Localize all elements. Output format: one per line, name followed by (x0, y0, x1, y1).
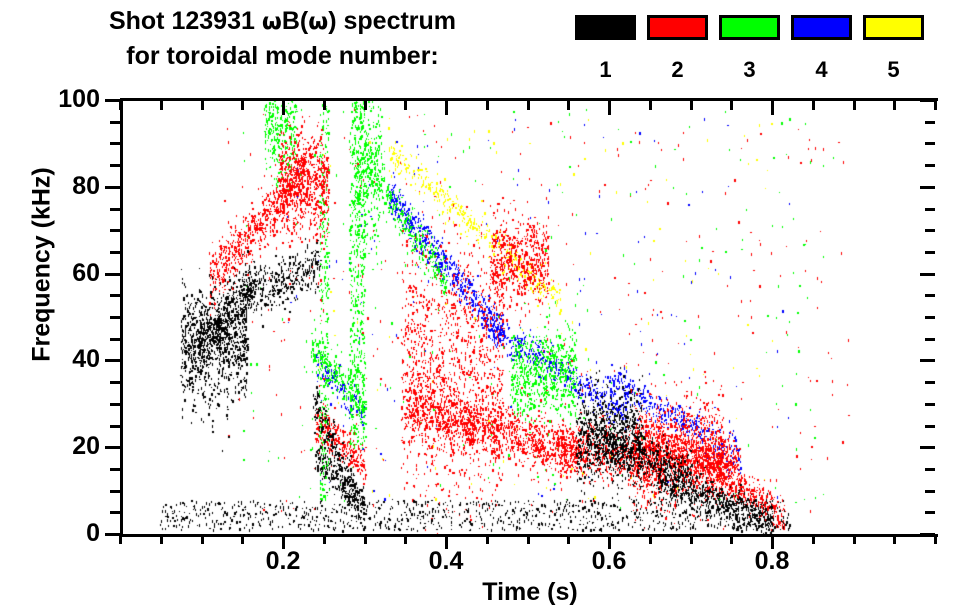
title-mid: B( (282, 7, 308, 35)
x-top-tick-0.2 (282, 100, 285, 115)
y-tick-minor-75 (110, 208, 120, 211)
y-tick-major-0 (105, 533, 120, 536)
plot-frame (120, 100, 938, 537)
legend-swatch-mode-n5 (863, 15, 924, 40)
y-tick-minor-30 (110, 403, 120, 406)
title-suffix: ) spectrum (328, 7, 456, 35)
y-right-tick-80 (920, 186, 935, 189)
y-tick-minor-85 (110, 164, 120, 167)
x-top-tick-0.9 (853, 100, 856, 110)
y-tick-label-0: 0 (25, 520, 100, 546)
y-right-tick-20 (920, 446, 935, 449)
y-tick-major-20 (105, 446, 120, 449)
y-tick-minor-5 (110, 511, 120, 514)
y-tick-minor-10 (110, 490, 120, 493)
y-right-tick-60 (920, 273, 935, 276)
y-axis-title: Frequency (kHz) (28, 155, 57, 375)
x-top-tick-0.45 (486, 100, 489, 110)
x-tick-minor-0.45 (486, 534, 489, 544)
y-right-tick-65 (925, 251, 935, 254)
x-top-tick-0.05 (160, 100, 163, 110)
x-top-tick-0.15 (241, 100, 244, 110)
x-top-tick-0.1 (201, 100, 204, 110)
legend-label-mode-n4: 4 (791, 57, 852, 83)
legend-label-row: 12345 (575, 57, 963, 87)
y-tick-major-100 (105, 99, 120, 102)
legend: 12345 (575, 13, 963, 88)
x-tick-minor-0.85 (812, 534, 815, 544)
y-right-tick-15 (925, 468, 935, 471)
title-prefix: Shot 123931 (109, 7, 262, 35)
x-top-tick-0.6 (608, 100, 611, 115)
title-line-1: Shot 123931 ωB(ω) spectrum (0, 4, 565, 39)
x-top-tick-0.55 (567, 100, 570, 110)
legend-swatch-mode-n1 (575, 15, 636, 40)
x-tick-minor-0.25 (323, 534, 326, 544)
y-tick-minor-65 (110, 251, 120, 254)
y-right-tick-90 (925, 142, 935, 145)
omega-symbol-1: ω (262, 9, 282, 35)
title-line-2: for toroidal mode number: (0, 39, 565, 73)
legend-swatch-mode-n3 (719, 15, 780, 40)
x-axis-title: Time (s) (380, 578, 680, 607)
y-right-tick-25 (925, 425, 935, 428)
y-right-tick-30 (925, 403, 935, 406)
figure-title: Shot 123931 ωB(ω) spectrum for toroidal … (0, 4, 565, 73)
y-right-tick-75 (925, 208, 935, 211)
x-tick-label-0.6: 0.6 (564, 546, 654, 576)
x-tick-minor-1 (934, 534, 937, 544)
x-top-tick-0.85 (812, 100, 815, 110)
x-tick-minor-0.7 (690, 534, 693, 544)
x-tick-minor-0.05 (160, 534, 163, 544)
x-tick-minor-0.35 (404, 534, 407, 544)
x-top-tick-0 (119, 100, 122, 110)
legend-label-mode-n5: 5 (863, 57, 924, 83)
y-tick-minor-50 (110, 316, 120, 319)
x-top-tick-0.75 (730, 100, 733, 110)
x-tick-minor-0.65 (649, 534, 652, 544)
x-tick-minor-0.95 (893, 534, 896, 544)
y-tick-minor-90 (110, 142, 120, 145)
x-top-tick-0.95 (893, 100, 896, 110)
legend-label-mode-n2: 2 (647, 57, 708, 83)
legend-swatch-mode-n4 (791, 15, 852, 40)
x-tick-label-0.2: 0.2 (238, 546, 328, 576)
y-right-tick-40 (920, 359, 935, 362)
x-tick-minor-0.1 (201, 534, 204, 544)
legend-swatch-mode-n2 (647, 15, 708, 40)
x-tick-minor-0.75 (730, 534, 733, 544)
y-tick-minor-25 (110, 425, 120, 428)
y-right-tick-55 (925, 294, 935, 297)
y-right-tick-85 (925, 164, 935, 167)
x-top-tick-0.65 (649, 100, 652, 110)
spectrogram-figure: Shot 123931 ωB(ω) spectrum for toroidal … (0, 0, 963, 615)
omega-symbol-2: ω (308, 9, 328, 35)
x-tick-label-0.8: 0.8 (727, 546, 817, 576)
y-tick-minor-55 (110, 294, 120, 297)
y-right-tick-35 (925, 381, 935, 384)
y-tick-minor-70 (110, 229, 120, 232)
x-top-tick-0.3 (364, 100, 367, 110)
y-tick-minor-95 (110, 121, 120, 124)
y-tick-minor-35 (110, 381, 120, 384)
y-tick-major-60 (105, 273, 120, 276)
legend-label-mode-n3: 3 (719, 57, 780, 83)
y-tick-label-20: 20 (25, 433, 100, 459)
y-tick-minor-45 (110, 338, 120, 341)
x-top-tick-0.25 (323, 100, 326, 110)
x-tick-minor-0 (119, 534, 122, 544)
y-tick-minor-15 (110, 468, 120, 471)
y-right-tick-0 (920, 533, 935, 536)
legend-swatch-row (575, 13, 963, 43)
x-top-tick-0.4 (445, 100, 448, 115)
y-tick-label-100: 100 (25, 86, 100, 112)
x-top-tick-0.8 (771, 100, 774, 115)
y-tick-major-80 (105, 186, 120, 189)
y-right-tick-45 (925, 338, 935, 341)
y-tick-major-40 (105, 359, 120, 362)
x-top-tick-0.35 (404, 100, 407, 110)
x-top-tick-0.7 (690, 100, 693, 110)
y-right-tick-5 (925, 511, 935, 514)
y-right-tick-70 (925, 229, 935, 232)
x-tick-label-0.4: 0.4 (401, 546, 491, 576)
x-tick-minor-0.15 (241, 534, 244, 544)
x-tick-minor-0.5 (527, 534, 530, 544)
y-right-tick-95 (925, 121, 935, 124)
x-tick-minor-0.9 (853, 534, 856, 544)
y-right-tick-50 (925, 316, 935, 319)
x-tick-minor-0.55 (567, 534, 570, 544)
x-tick-minor-0.3 (364, 534, 367, 544)
legend-label-mode-n1: 1 (575, 57, 636, 83)
x-top-tick-1 (934, 100, 937, 110)
y-right-tick-10 (925, 490, 935, 493)
x-top-tick-0.5 (527, 100, 530, 110)
y-right-tick-100 (920, 99, 935, 102)
